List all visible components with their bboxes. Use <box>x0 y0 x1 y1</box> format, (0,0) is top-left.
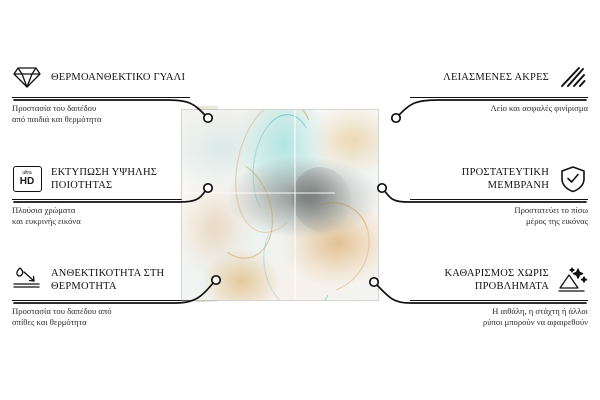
feature-description-line: ρύποι μπορούν να αφαιρεθούν <box>410 317 588 328</box>
feature-title: ΚΑΘΑΡΙΣΜΟΣ ΧΩΡΙΣ ΠΡΟΒΛΗΜΑΤΑ <box>410 267 549 293</box>
product-glass-panel <box>182 110 378 300</box>
feature-infographic: ΘΕΡΜΟΑΝΘΕΚΤΙΚΟ ΓΥΑΛΙ Προστασία του δαπέδ… <box>0 0 600 400</box>
feature-description-line: Πλούσια χρώματα <box>12 205 190 216</box>
feature-description: Προστατεύει το πίσω μέρος της εικόνας <box>410 205 588 228</box>
polished-edge-icon <box>558 62 588 92</box>
feature-divider <box>410 300 588 301</box>
feature-description-line: Προστατεύει το πίσω <box>410 205 588 216</box>
marble-artwork <box>182 110 378 300</box>
feature-divider <box>410 97 588 98</box>
feature-title: ΑΝΘΕΚΤΙΚΟΤΗΤΑ ΣΤΗ ΘΕΡΜΟΤΗΤΑ <box>51 267 190 293</box>
feature-header: ultra HD ΕΚΤΥΠΩΣΗ ΥΨΗΛΗΣ ΠΟΙΟΤΗΤΑΣ <box>12 164 190 194</box>
ultra-hd-main-text: HD <box>20 177 34 187</box>
feature-header: ΘΕΡΜΟΑΝΘΕΚΤΙΚΟ ΓΥΑΛΙ <box>12 62 190 92</box>
flame-deflect-icon <box>12 265 42 295</box>
feature-description: Η αιθάλη, η στάχτη ή άλλοι ρύποι μπορούν… <box>410 306 588 329</box>
feature-description-line: Η αιθάλη, η στάχτη ή άλλοι <box>410 306 588 317</box>
feature-title: ΕΚΤΥΠΩΣΗ ΥΨΗΛΗΣ ΠΟΙΟΤΗΤΑΣ <box>51 166 190 192</box>
feature-block-polished-edges: ΛΕΙΑΣΜΕΝΕΣ ΑΚΡΕΣ Λείο και ασφαλές φινίρι… <box>410 62 588 114</box>
feature-header: ΛΕΙΑΣΜΕΝΕΣ ΑΚΡΕΣ <box>410 62 588 92</box>
feature-description-line: σπίθες και θερμότητα <box>12 317 190 328</box>
sparkle-clean-icon <box>558 265 588 295</box>
feature-block-protective-membrane: ΠΡΟΣΤΑΤΕΥΤΙΚΗ ΜΕΜΒΡΑΝΗ Προστατεύει το πί… <box>410 164 588 228</box>
feature-block-heat-resistant-glass: ΘΕΡΜΟΑΝΘΕΚΤΙΚΟ ΓΥΑΛΙ Προστασία του δαπέδ… <box>12 62 190 126</box>
feature-description: Προστασία του δαπέδου από σπίθες και θερ… <box>12 306 190 329</box>
feature-block-heat-durability: ΑΝΘΕΚΤΙΚΟΤΗΤΑ ΣΤΗ ΘΕΡΜΟΤΗΤΑ Προστασία το… <box>12 265 190 329</box>
feature-title: ΘΕΡΜΟΑΝΘΕΚΤΙΚΟ ΓΥΑΛΙ <box>51 71 185 84</box>
feature-description: Πλούσια χρώματα και ευκρινής εικόνα <box>12 205 190 228</box>
feature-header: ΚΑΘΑΡΙΣΜΟΣ ΧΩΡΙΣ ΠΡΟΒΛΗΜΑΤΑ <box>410 265 588 295</box>
feature-block-high-quality-print: ultra HD ΕΚΤΥΠΩΣΗ ΥΨΗΛΗΣ ΠΟΙΟΤΗΤΑΣ Πλούσ… <box>12 164 190 228</box>
feature-header: ΠΡΟΣΤΑΤΕΥΤΙΚΗ ΜΕΜΒΡΑΝΗ <box>410 164 588 194</box>
ultra-hd-icon: ultra HD <box>12 164 42 194</box>
ultra-hd-badge: ultra HD <box>13 166 42 192</box>
shield-check-icon <box>558 164 588 194</box>
feature-description-line: και ευκρινής εικόνα <box>12 216 190 227</box>
feature-description-line: Λείο και ασφαλές φινίρισμα <box>410 103 588 114</box>
feature-title: ΛΕΙΑΣΜΕΝΕΣ ΑΚΡΕΣ <box>443 71 549 84</box>
diamond-icon <box>12 62 42 92</box>
feature-description-line: Προστασία του δαπέδου από <box>12 306 190 317</box>
feature-divider <box>12 97 190 98</box>
feature-description-line: από παιδιά και θερμότητα <box>12 114 190 125</box>
feature-divider <box>12 300 190 301</box>
feature-description: Λείο και ασφαλές φινίρισμα <box>410 103 588 114</box>
feature-divider <box>410 199 588 200</box>
feature-divider <box>12 199 190 200</box>
feature-description-line: Προστασία του δαπέδου <box>12 103 190 114</box>
feature-header: ΑΝΘΕΚΤΙΚΟΤΗΤΑ ΣΤΗ ΘΕΡΜΟΤΗΤΑ <box>12 265 190 295</box>
feature-description: Προστασία του δαπέδου από παιδιά και θερ… <box>12 103 190 126</box>
product-image-stage <box>182 110 400 300</box>
feature-block-easy-cleaning: ΚΑΘΑΡΙΣΜΟΣ ΧΩΡΙΣ ΠΡΟΒΛΗΜΑΤΑ Η αιθάλη, η … <box>410 265 588 329</box>
feature-description-line: μέρος της εικόνας <box>410 216 588 227</box>
feature-title: ΠΡΟΣΤΑΤΕΥΤΙΚΗ ΜΕΜΒΡΑΝΗ <box>410 166 549 192</box>
